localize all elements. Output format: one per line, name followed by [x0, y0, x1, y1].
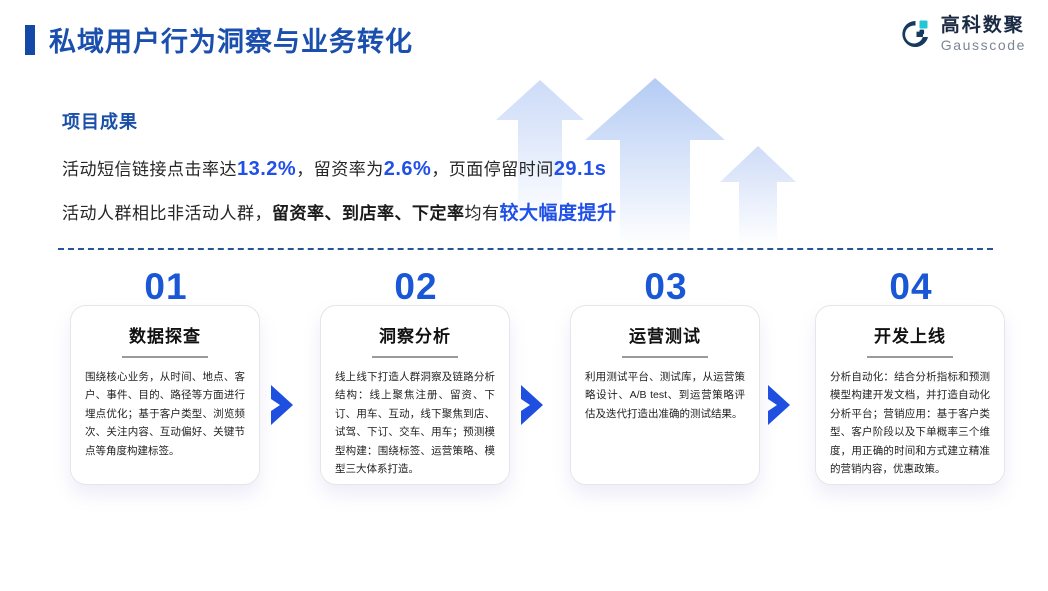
- results-heading: 项目成果: [62, 108, 882, 134]
- step-title-3: 运营测试: [571, 322, 759, 347]
- brand-logo: 高科数聚 Gausscode: [898, 16, 1026, 54]
- brand-name-cn: 高科数聚: [941, 16, 1026, 36]
- chevron-right-icon: [765, 383, 793, 427]
- metric-leadrate-value: 2.6%: [384, 158, 432, 180]
- step-rule-2: [372, 356, 458, 358]
- metric-dwelltime-value: 29.1s: [554, 158, 607, 180]
- step-card-3[interactable]: 03 运营测试 利用测试平台、测试库，从运营策略设计、A/B test、到运营策…: [570, 305, 760, 485]
- step-body-2: 线上线下打造人群洞察及链路分析结构：线上聚焦注册、留资、下订、用车、互动，线下聚…: [321, 368, 509, 478]
- step-number-2: 02: [321, 268, 511, 305]
- step-body-1: 围绕核心业务，从时间、地点、客户、事件、目的、路径等方面进行埋点优化；基于客户类…: [71, 368, 259, 460]
- slide-header: 私域用户行为洞察与业务转化 高科数聚 Gausscode: [0, 0, 1048, 78]
- step-title-4: 开发上线: [816, 322, 1004, 347]
- step-body-4: 分析自动化：结合分析指标和预测模型构建开发文档，并打造自动化分析平台；营销应用：…: [816, 368, 1004, 478]
- step-title-1: 数据探查: [71, 322, 259, 347]
- step-rule-3: [622, 356, 708, 358]
- step-card-4[interactable]: 04 开发上线 分析自动化：结合分析指标和预测模型构建开发文档，并打造自动化分析…: [815, 305, 1005, 485]
- page-title-text: 私域用户行为洞察与业务转化: [49, 20, 413, 59]
- gausscode-g-logo-icon: [898, 17, 934, 53]
- metric-ctr-value: 13.2%: [237, 158, 296, 180]
- chevron-right-icon: [268, 383, 296, 427]
- step-body-3: 利用测试平台、测试库，从运营策略设计、A/B test、到运营策略评估及迭代打造…: [571, 368, 759, 423]
- step-number-1: 01: [71, 268, 261, 305]
- step-card-2[interactable]: 02 洞察分析 线上线下打造人群洞察及链路分析结构：线上聚焦注册、留资、下订、用…: [320, 305, 510, 485]
- chevron-right-icon: [518, 383, 546, 427]
- brand-logo-text: 高科数聚 Gausscode: [941, 16, 1026, 54]
- brand-name-en: Gausscode: [941, 37, 1026, 54]
- title-accent-bar: [25, 25, 35, 55]
- step-number-3: 03: [571, 268, 761, 305]
- step-title-2: 洞察分析: [321, 322, 509, 347]
- comparison-seg-1: 活动人群相比非活动人群，: [62, 204, 272, 223]
- page-title: 私域用户行为洞察与业务转化: [25, 20, 413, 59]
- results-line-comparison: 活动人群相比非活动人群，留资率、到店率、下定率均有较大幅度提升: [62, 199, 882, 228]
- project-results-block: 项目成果 活动短信链接点击率达13.2%，留资率为2.6%，页面停留时间29.1…: [62, 108, 882, 242]
- process-steps: 01 数据探查 围绕核心业务，从时间、地点、客户、事件、目的、路径等方面进行埋点…: [0, 268, 1048, 528]
- metrics-seg-3: ，页面停留时间: [431, 160, 554, 179]
- metrics-seg-1: 活动短信链接点击率达: [62, 160, 237, 179]
- step-rule-1: [122, 356, 208, 358]
- comparison-seg-2: 均有: [465, 204, 500, 223]
- results-line-metrics: 活动短信链接点击率达13.2%，留资率为2.6%，页面停留时间29.1s: [62, 154, 882, 185]
- slide-root: 私域用户行为洞察与业务转化 高科数聚 Gausscode: [0, 0, 1048, 591]
- comparison-highlight: 较大幅度提升: [500, 203, 617, 224]
- comparison-metrics-bold: 留资率、到店率、下定率: [272, 204, 465, 223]
- metrics-seg-2: ，留资率为: [296, 160, 384, 179]
- step-number-4: 04: [816, 268, 1006, 305]
- section-divider: [58, 248, 993, 250]
- step-card-1[interactable]: 01 数据探查 围绕核心业务，从时间、地点、客户、事件、目的、路径等方面进行埋点…: [70, 305, 260, 485]
- step-rule-4: [867, 356, 953, 358]
